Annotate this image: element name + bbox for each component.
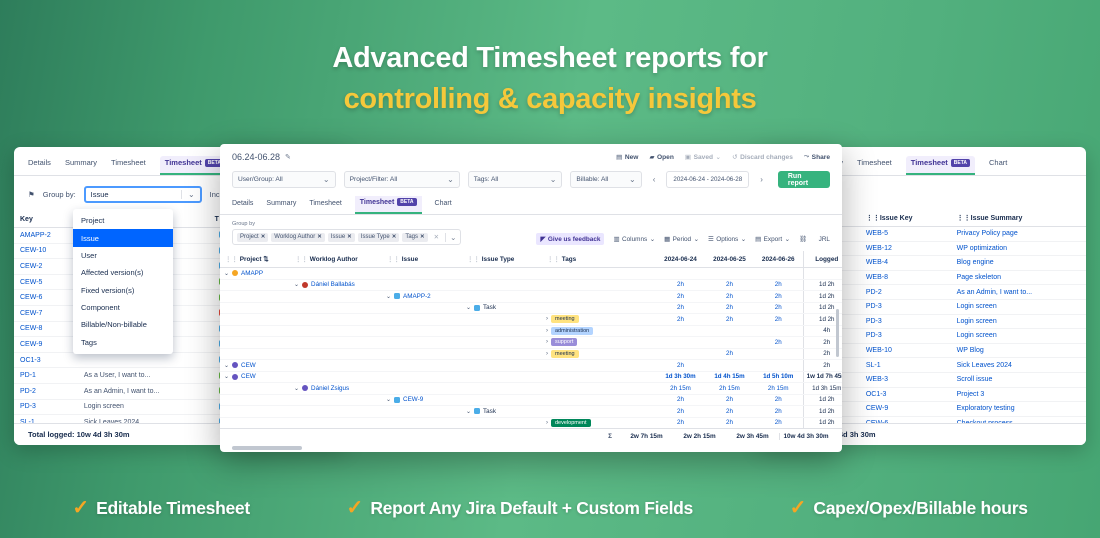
vertical-scrollbar[interactable] <box>836 309 840 357</box>
day-value-cell[interactable]: 2h <box>705 406 754 418</box>
table-row[interactable]: › meeting2h2h <box>220 348 842 360</box>
expand-icon[interactable]: › <box>546 328 548 334</box>
dialog-tabs: DetailsSummaryTimesheetTimesheetBETAChar… <box>220 196 842 215</box>
drag-handle-icon: ⋮⋮ <box>295 256 308 263</box>
issue-key-cell[interactable]: CEW-6 <box>14 290 78 306</box>
issue-key-cell[interactable]: PD-2 <box>14 383 78 399</box>
issue-summary-cell[interactable]: Login screen <box>951 314 1086 329</box>
issue-key-cell[interactable]: PD-3 <box>14 399 78 415</box>
tab-timesheet-beta[interactable]: TimesheetBETA <box>906 156 975 175</box>
tab-timesheet-beta[interactable]: TimesheetBETA <box>355 196 422 214</box>
tree-column-cell: ⌄ Task <box>462 302 542 314</box>
check-icon: ✓ <box>72 498 89 518</box>
timesheet-report-dialog: 06.24-06.28 ✎ ▤ New ▰ Open ▣ Saved ⌄ ↺ D… <box>220 144 842 452</box>
project-icon <box>232 374 238 380</box>
drag-handle-icon: ⋮⋮ <box>467 256 480 263</box>
row-label[interactable]: CEW <box>241 373 256 380</box>
open-button[interactable]: ▰ Open <box>649 153 673 161</box>
tab-label: Timesheet <box>165 158 202 167</box>
avatar-icon <box>302 282 308 288</box>
options-button[interactable]: ☰ Options ⌄ <box>708 235 746 243</box>
date-range-value: 2024-06-24 - 2024-06-28 <box>673 176 742 183</box>
issue-key-cell[interactable]: WEB-10 <box>860 343 951 358</box>
collapse-icon[interactable]: ⌄ <box>466 408 471 415</box>
collapse-icon[interactable]: ⌄ <box>224 362 229 369</box>
row-label[interactable]: Dániel Ballabás <box>311 281 355 288</box>
tree-column-cell <box>462 291 542 303</box>
chip-label: Tags <box>405 234 418 240</box>
headline-line-1: Advanced Timesheet reports for <box>332 42 767 74</box>
feature-item: ✓ Report Any Jira Default + Custom Field… <box>347 498 693 519</box>
tree-cell: ⌄ CEW-9 <box>382 396 462 403</box>
sum-icon: Σ <box>220 433 620 440</box>
tab-summary[interactable]: Summary <box>65 158 97 173</box>
link-icon: ⛓ <box>799 235 807 243</box>
check-icon: ✓ <box>790 498 807 518</box>
column-header[interactable]: ⋮⋮Worklog Author <box>290 251 382 268</box>
table-row[interactable]: ⌄ AMAPP-22h2h2h1d 2h <box>220 291 842 303</box>
column-header[interactable]: ⋮⋮Project ⇅ <box>220 251 290 268</box>
day-value-cell[interactable] <box>754 325 803 337</box>
action-label: Share <box>812 154 830 161</box>
link-icon-button[interactable]: ⛓ <box>799 235 807 243</box>
issue-summary-cell[interactable]: WP Blog <box>951 343 1086 358</box>
row-label[interactable]: Dániel Zsigus <box>311 385 349 392</box>
day-value-cell[interactable]: 2h <box>705 279 754 291</box>
remove-chip-icon[interactable]: ✕ <box>317 234 322 240</box>
day-value-cell[interactable] <box>656 325 705 337</box>
day-value-cell[interactable] <box>656 268 705 280</box>
tree-column-cell: › administration <box>542 325 656 337</box>
day-value-cell[interactable]: 2h <box>656 279 705 291</box>
issue-key-cell[interactable]: AMAPP-2 <box>14 228 78 244</box>
tab-details[interactable]: Details <box>28 158 51 173</box>
timesheet-table: ⋮⋮Project ⇅⋮⋮Worklog Author⋮⋮Issue⋮⋮Issu… <box>220 251 842 441</box>
dropdown-option[interactable]: Issue <box>73 229 173 246</box>
issue-key-cell[interactable]: CEW-5 <box>14 274 78 290</box>
issue-summary-cell[interactable]: Project 3 <box>951 387 1086 402</box>
tab-label: Chart <box>435 200 452 207</box>
issue-key-cell[interactable]: PD-3 <box>860 299 951 314</box>
jrl-button[interactable]: JRL <box>816 236 830 243</box>
day-value-cell[interactable] <box>705 337 754 349</box>
chevron-down-icon: ⌄ <box>694 235 699 243</box>
new-button[interactable]: ▤ New <box>616 153 638 161</box>
row-label[interactable]: Task <box>483 408 496 415</box>
tree-column-cell <box>382 314 462 326</box>
day-value-cell[interactable]: 2h <box>754 291 803 303</box>
table-row[interactable]: ⌄ Dániel Zsigus2h 15m2h 15m2h 15m1d 3h 1… <box>220 383 842 395</box>
tab-label: Details <box>232 200 253 207</box>
table-row[interactable]: ⌄ CEW2h2h <box>220 360 842 372</box>
sort-icon[interactable]: ⇅ <box>263 256 268 263</box>
discard-changes-button[interactable]: ↺ Discard changes <box>732 153 793 161</box>
share-button[interactable]: ⤳ Share <box>804 153 830 161</box>
row-label[interactable]: CEW <box>241 362 256 369</box>
column-header[interactable]: ⋮⋮Issue Key <box>860 210 951 227</box>
tab-timesheet[interactable]: Timesheet <box>111 158 146 173</box>
day-value-cell[interactable]: 2h <box>656 417 705 429</box>
day-value-cell[interactable]: 2h <box>705 314 754 326</box>
day-value-cell[interactable]: 2h <box>705 302 754 314</box>
timesheet-table-wrapper: ⋮⋮Project ⇅⋮⋮Worklog Author⋮⋮Issue⋮⋮Issu… <box>220 251 842 437</box>
table-row[interactable]: ⌄ Task2h2h2h1d 2h <box>220 406 842 418</box>
issue-summary-cell[interactable]: Sick Leaves 2024 <box>951 358 1086 373</box>
dropdown-option[interactable]: Fixed version(s) <box>73 282 173 299</box>
tab-chart[interactable]: Chart <box>435 197 452 213</box>
project-cell <box>78 352 209 368</box>
day-value-cell[interactable] <box>656 348 705 360</box>
tag-cell: › administration <box>542 327 656 335</box>
tree-column-cell: ⌄ Task <box>462 406 542 418</box>
project-icon <box>232 362 238 368</box>
remove-chip-icon[interactable]: ✕ <box>261 234 266 240</box>
dropdown-option[interactable]: Tags <box>73 334 173 351</box>
chevron-down-icon[interactable]: ⌄ <box>445 233 456 242</box>
group-by-chip[interactable]: Issue✕ <box>328 233 355 242</box>
day-value-cell[interactable]: 2h <box>705 348 754 360</box>
saved-button[interactable]: ▣ Saved ⌄ <box>685 153 721 161</box>
tag-cell: › meeting <box>542 315 656 323</box>
tab-timesheet[interactable]: Timesheet <box>857 158 892 173</box>
tree-column-cell: › development <box>542 417 656 429</box>
day-value-cell[interactable]: 2h <box>705 417 754 429</box>
group-by-chip[interactable]: Project✕ <box>237 233 268 242</box>
group-by-select[interactable]: Issue ⌄ <box>84 186 202 203</box>
dropdown-option[interactable]: User <box>73 247 173 264</box>
day-value-cell[interactable] <box>705 325 754 337</box>
collapse-icon[interactable]: ⌄ <box>386 293 391 300</box>
issue-summary-cell[interactable]: Blog engine <box>951 256 1086 271</box>
day-value-cell[interactable]: 2h <box>705 394 754 406</box>
logged-total-cell: 1d 2h <box>803 406 842 418</box>
tree-cell: ⌄ CEW <box>220 362 290 369</box>
task-icon <box>474 408 480 414</box>
pencil-icon[interactable]: ✎ <box>285 153 291 161</box>
day-value-cell[interactable]: 2h <box>754 406 803 418</box>
tab-label: Details <box>28 158 51 167</box>
column-header[interactable]: ⋮⋮Issue <box>382 251 462 268</box>
footer-day-total: 2w 3h 45m <box>726 433 779 440</box>
day-value-cell[interactable]: 2h <box>656 394 705 406</box>
clear-chips-icon[interactable]: ✕ <box>431 233 442 241</box>
columns-button[interactable]: ▥ Columns ⌄ <box>613 235 655 243</box>
page-title: Advanced Timesheet reports for controlli… <box>0 38 1100 120</box>
tab-label: Timesheet <box>111 158 146 167</box>
group-by-icon: ⚑ <box>28 190 35 199</box>
collapse-icon[interactable]: ⌄ <box>294 385 299 392</box>
tool-label: Give us feedback <box>548 236 601 243</box>
day-value-cell[interactable]: 2h 15m <box>754 383 803 395</box>
issue-key-cell[interactable]: CEW-7 <box>14 305 78 321</box>
collapse-icon[interactable]: ⌄ <box>224 270 229 277</box>
drag-handle-icon: ⋮⋮ <box>387 256 400 263</box>
remove-chip-icon[interactable]: ✕ <box>392 234 397 240</box>
tool-label: Options <box>716 236 738 243</box>
dropdown-option[interactable]: Affected version(s) <box>73 264 173 281</box>
remove-chip-icon[interactable]: ✕ <box>347 234 352 240</box>
tree-column-cell <box>220 394 290 406</box>
dropdown-option[interactable]: Billable/Non-billable <box>73 316 173 333</box>
day-value-cell[interactable] <box>705 268 754 280</box>
day-value-cell[interactable]: 2h <box>656 406 705 418</box>
logged-total-cell: 1d 2h <box>803 291 842 303</box>
chevron-down-icon: ⌄ <box>716 153 722 161</box>
day-value-cell[interactable] <box>656 337 705 349</box>
group-by-chip[interactable]: Tags✕ <box>402 233 427 242</box>
tree-column-cell <box>382 268 462 280</box>
row-label[interactable]: Task <box>483 304 496 311</box>
group-by-chip[interactable]: Issue Type✕ <box>358 233 400 242</box>
day-value-cell[interactable] <box>754 268 803 280</box>
tree-column-cell: ⌄ Dániel Ballabás <box>290 279 382 291</box>
tree-column-cell <box>290 371 382 383</box>
issue-key-cell[interactable]: PD-1 <box>14 368 78 384</box>
table-row[interactable]: › administration4h <box>220 325 842 337</box>
group-by-chips[interactable]: Project✕Worklog Author✕Issue✕Issue Type✕… <box>232 229 461 245</box>
give-us-feedback-button[interactable]: ◤ Give us feedback <box>536 233 604 245</box>
expand-icon[interactable]: › <box>546 316 548 322</box>
table-row[interactable]: ⌄ AMAPP <box>220 268 842 280</box>
issue-summary-cell[interactable]: Exploratory testing <box>951 402 1086 417</box>
timesheet-footer-row: Σ2w 7h 15m2w 2h 15m2w 3h 45m10w 4d 3h 30… <box>220 428 842 444</box>
tree-column-cell <box>462 417 542 429</box>
expand-icon[interactable]: › <box>546 420 548 426</box>
tree-column-cell <box>542 406 656 418</box>
tree-cell: ⌄ AMAPP <box>220 270 290 277</box>
feature-label: Capex/Opex/Billable hours <box>813 498 1027 519</box>
tool-label: Columns <box>622 236 647 243</box>
issue-key-cell[interactable]: CEW-8 <box>14 321 78 337</box>
group-by-dropdown[interactable]: ProjectIssueUserAffected version(s)Fixed… <box>73 209 173 354</box>
report-title[interactable]: 06.24-06.28 <box>232 152 280 162</box>
collapse-icon[interactable]: ⌄ <box>466 304 471 311</box>
tab-timesheet[interactable]: Timesheet <box>309 197 341 213</box>
day-value-cell[interactable]: 2h <box>656 360 705 372</box>
tree-column-cell: ⌄ AMAPP-2 <box>382 291 462 303</box>
footer-day-total: 2w 2h 15m <box>673 433 726 440</box>
day-value-cell[interactable]: 2h <box>705 291 754 303</box>
issue-summary-cell[interactable]: Privacy Policy page <box>951 227 1086 242</box>
tool-label: Export <box>764 236 782 243</box>
issue-key-cell[interactable]: OC1-3 <box>860 387 951 402</box>
issue-summary-cell[interactable]: Scroll issue <box>951 372 1086 387</box>
tree-column-cell <box>220 325 290 337</box>
tree-column-cell: ⌄ AMAPP <box>220 268 290 280</box>
tree-column-cell <box>542 394 656 406</box>
task-icon <box>394 397 400 403</box>
tree-column-cell <box>462 314 542 326</box>
issue-summary-cell[interactable]: Login screen <box>951 299 1086 314</box>
group-by-label: Group by <box>232 221 461 227</box>
project-icon <box>232 270 238 276</box>
tab-timesheet-beta[interactable]: TimesheetBETA <box>160 156 229 175</box>
tree-column-cell <box>382 337 462 349</box>
day-value-cell[interactable]: 2h <box>754 314 803 326</box>
day-value-cell[interactable]: 2h <box>656 302 705 314</box>
tree-column-cell <box>542 383 656 395</box>
day-value-cell[interactable]: 2h <box>754 337 803 349</box>
issue-key-cell[interactable]: CEW-9 <box>860 402 951 417</box>
tree-column-cell <box>382 348 462 360</box>
undo-icon: ↺ <box>732 153 738 161</box>
chip-label: Worklog Author <box>274 234 315 240</box>
dialog-actions: ▤ New ▰ Open ▣ Saved ⌄ ↺ Discard changes… <box>616 153 830 161</box>
tree-column-cell <box>290 291 382 303</box>
tab-details[interactable]: Details <box>232 197 253 213</box>
issue-key-cell[interactable]: WEB-12 <box>860 241 951 256</box>
calendar-icon: ▦ <box>664 235 670 243</box>
tree-column-cell <box>462 371 542 383</box>
issue-key-cell[interactable]: CEW-2 <box>14 259 78 275</box>
day-value-cell[interactable] <box>754 360 803 372</box>
tree-column-cell <box>382 325 462 337</box>
megaphone-icon: ◤ <box>540 235 545 243</box>
remove-chip-icon[interactable]: ✕ <box>420 234 425 240</box>
prev-period-button[interactable]: ‹ <box>650 175 659 184</box>
issue-key-cell[interactable]: WEB-8 <box>860 270 951 285</box>
tab-label: Summary <box>65 158 97 167</box>
tree-column-cell <box>382 279 462 291</box>
tree-column-cell <box>382 406 462 418</box>
tree-column-cell: ⌄ CEW-9 <box>382 394 462 406</box>
tree-column-cell <box>290 348 382 360</box>
column-header[interactable]: ⋮⋮Tags <box>542 251 656 268</box>
day-value-cell[interactable]: 2h 15m <box>705 383 754 395</box>
chip-label: Project <box>240 234 259 240</box>
issue-key-cell[interactable]: CEW-10 <box>14 243 78 259</box>
expand-icon[interactable]: › <box>546 351 548 357</box>
tree-column-cell: › meeting <box>542 314 656 326</box>
dropdown-option[interactable]: Component <box>73 299 173 316</box>
table-row[interactable]: ⌄ Dániel Ballabás2h2h2h1d 2h <box>220 279 842 291</box>
day-value-cell[interactable]: 1d 3h 30m <box>656 371 705 383</box>
day-value-cell[interactable]: 2h <box>754 417 803 429</box>
date-range-input[interactable]: 2024-06-24 - 2024-06-28 <box>666 171 749 188</box>
column-header[interactable]: Key <box>14 212 78 228</box>
issue-key-cell[interactable]: PD-3 <box>860 329 951 344</box>
table-row[interactable]: ⌄ Task2h2h2h1d 2h <box>220 302 842 314</box>
next-period-button[interactable]: › <box>757 175 766 184</box>
beta-badge: BETA <box>951 159 970 167</box>
tree-column-cell <box>290 360 382 372</box>
issue-key-cell[interactable]: CEW-9 <box>14 337 78 353</box>
issue-key-cell[interactable]: PD-3 <box>860 314 951 329</box>
logged-column-header: Logged <box>803 251 842 268</box>
drag-handle-icon: ⋮⋮ <box>225 256 238 263</box>
tree-column-cell <box>542 279 656 291</box>
horizontal-scrollbar[interactable] <box>232 446 302 450</box>
tree-column-cell <box>462 279 542 291</box>
table-row[interactable]: ⌄ CEW-92h2h2h1d 2h <box>220 394 842 406</box>
day-value-cell[interactable] <box>754 348 803 360</box>
tag-badge: meeting <box>551 315 579 323</box>
logged-total-cell: 1d 2h <box>803 417 842 429</box>
billable-filter[interactable]: Billable: All ⌄ <box>570 171 641 188</box>
tree-column-cell <box>462 348 542 360</box>
issue-key-cell[interactable]: WEB-4 <box>860 256 951 271</box>
tags-filter[interactable]: Tags: All ⌄ <box>468 171 563 188</box>
issue-summary-cell[interactable]: Page skeleton <box>951 270 1086 285</box>
issue-key-cell[interactable]: WEB-5 <box>860 227 951 242</box>
issue-key-cell[interactable]: WEB-3 <box>860 372 951 387</box>
issue-key-cell[interactable]: OC1-3 <box>14 352 78 368</box>
chevron-down-icon: ⌄ <box>629 175 636 184</box>
action-label: Open <box>657 154 674 161</box>
tree-cell: ⌄ AMAPP-2 <box>382 293 462 300</box>
issue-key-cell[interactable]: PD-2 <box>860 285 951 300</box>
drag-handle-icon: ⋮⋮ <box>957 215 971 222</box>
tab-chart[interactable]: Chart <box>989 158 1007 173</box>
collapse-icon[interactable]: ⌄ <box>294 281 299 288</box>
logged-total-cell: 1d 2h <box>803 394 842 406</box>
tab-label: Timesheet <box>360 199 395 206</box>
tag-badge: support <box>551 338 577 346</box>
column-header[interactable]: ⋮⋮Issue Summary <box>951 210 1086 227</box>
tree-column-cell <box>220 348 290 360</box>
day-value-cell[interactable]: 2h <box>754 394 803 406</box>
user-group-filter[interactable]: User/Group: All ⌄ <box>232 171 336 188</box>
row-label[interactable]: AMAPP-2 <box>403 293 431 300</box>
day-value-cell[interactable] <box>705 360 754 372</box>
tags-filter-label: Tags: All <box>474 176 499 183</box>
issue-key-cell[interactable]: SL-1 <box>860 358 951 373</box>
tree-column-cell <box>462 360 542 372</box>
day-value-cell[interactable]: 2h <box>754 302 803 314</box>
day-value-cell[interactable]: 2h <box>656 314 705 326</box>
group-by-chip[interactable]: Worklog Author✕ <box>271 233 325 242</box>
expand-icon[interactable]: › <box>546 339 548 345</box>
tree-column-cell <box>382 417 462 429</box>
chevron-down-icon: ⌄ <box>323 175 330 184</box>
table-row[interactable]: › meeting2h2h2h1d 2h <box>220 314 842 326</box>
table-row[interactable]: › development2h2h2h1d 2h <box>220 417 842 429</box>
export-icon: ▤ <box>755 235 761 243</box>
tree-column-cell <box>290 325 382 337</box>
tree-column-cell <box>290 302 382 314</box>
day-value-cell[interactable]: 2h <box>656 291 705 303</box>
dropdown-option[interactable]: Project <box>73 212 173 229</box>
table-row[interactable]: › support2h2h <box>220 337 842 349</box>
export-button[interactable]: ▤ Export ⌄ <box>755 235 790 243</box>
new-file-icon: ▤ <box>616 153 622 161</box>
tab-summary[interactable]: Summary <box>266 197 296 213</box>
day-value-cell[interactable]: 2h <box>754 279 803 291</box>
project-filter[interactable]: Project/Filter: All ⌄ <box>344 171 460 188</box>
drag-handle-icon: ⋮⋮ <box>866 215 880 222</box>
issue-summary-cell[interactable]: WP optimization <box>951 241 1086 256</box>
tree-column-cell <box>462 325 542 337</box>
day-value-cell[interactable]: 1d 4h 15m <box>705 371 754 383</box>
period-button[interactable]: ▦ Period ⌄ <box>664 235 699 243</box>
run-report-button[interactable]: Run report <box>778 171 830 188</box>
column-header[interactable]: ⋮⋮Issue Type <box>462 251 542 268</box>
collapse-icon[interactable]: ⌄ <box>224 373 229 380</box>
tree-column-cell <box>542 268 656 280</box>
tree-column-cell <box>290 337 382 349</box>
billable-filter-label: Billable: All <box>576 176 608 183</box>
tree-column-cell <box>220 337 290 349</box>
row-label[interactable]: CEW-9 <box>403 396 423 403</box>
row-label[interactable]: AMAPP <box>241 270 263 277</box>
table-row[interactable]: ⌄ CEW1d 3h 30m1d 4h 15m1d 5h 10m1w 1d 7h… <box>220 371 842 383</box>
day-value-cell[interactable]: 2h 15m <box>656 383 705 395</box>
issue-summary-cell[interactable]: Login screen <box>951 329 1086 344</box>
tree-column-cell: › support <box>542 337 656 349</box>
issue-summary-cell[interactable]: As an Admin, I want to... <box>951 285 1086 300</box>
day-value-cell[interactable]: 1d 5h 10m <box>754 371 803 383</box>
collapse-icon[interactable]: ⌄ <box>386 396 391 403</box>
